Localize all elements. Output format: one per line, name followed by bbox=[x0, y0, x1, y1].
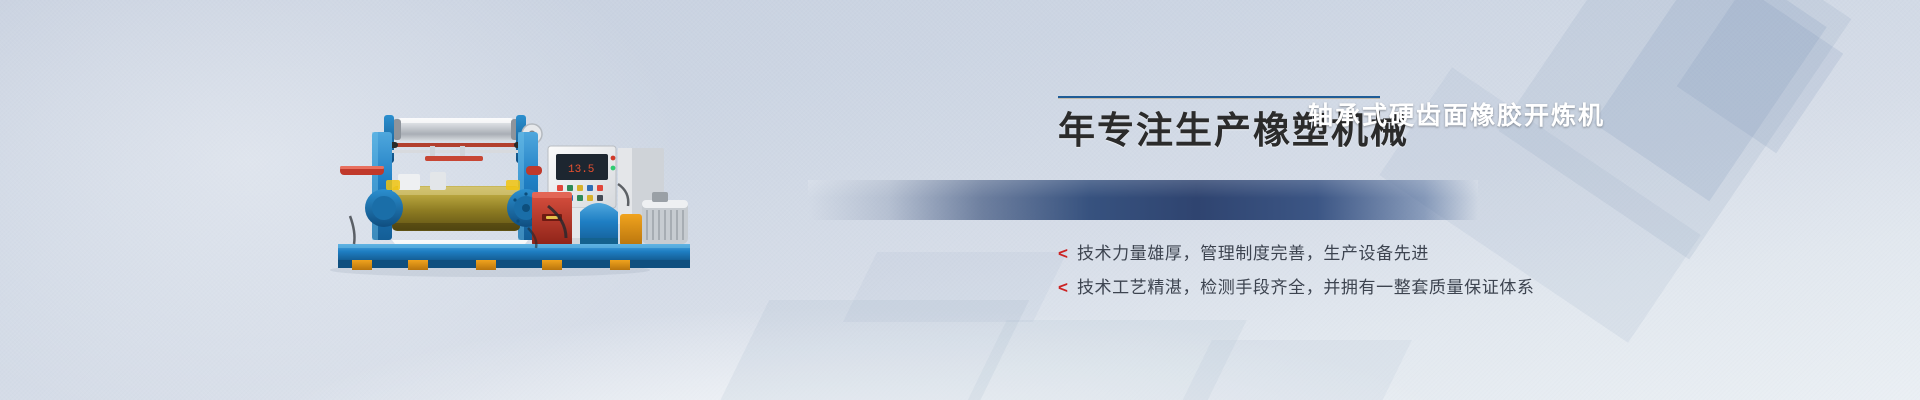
decorative-polygon-8 bbox=[1168, 340, 1412, 400]
list-item: < 技术工艺精湛，检测手段齐全，并拥有一整套质量保证体系 bbox=[1058, 278, 1535, 298]
feature-text: 技术力量雄厚，管理制度完善，生产设备先进 bbox=[1077, 244, 1429, 264]
product-image-rubber-mixing-mill: 13.5 bbox=[280, 88, 700, 278]
svg-text:13.5: 13.5 bbox=[568, 164, 594, 176]
feature-list: < 技术力量雄厚，管理制度完善，生产设备先进 < 技术工艺精湛，检测手段齐全，并… bbox=[1058, 244, 1535, 313]
subtitle-bar bbox=[808, 180, 1478, 220]
subtitle-bar-sheen bbox=[808, 180, 1478, 198]
promo-banner: 13.5 bbox=[0, 0, 1920, 400]
decorative-polygon-7 bbox=[843, 252, 1067, 322]
banner-copy: 年专注生产橡塑机械 轴承式硬齿面橡胶开炼机 < 技术力量雄厚，管理制度完善，生产… bbox=[1058, 96, 1878, 161]
product-subtitle: 轴承式硬齿面橡胶开炼机 bbox=[1308, 96, 1605, 136]
feature-text: 技术工艺精湛，检测手段齐全，并拥有一整套质量保证体系 bbox=[1077, 278, 1535, 298]
decorative-polygon-5 bbox=[711, 300, 1030, 400]
list-item: < 技术力量雄厚，管理制度完善，生产设备先进 bbox=[1058, 244, 1535, 264]
chevron-left-icon: < bbox=[1058, 279, 1068, 296]
decorative-polygon-6 bbox=[953, 320, 1247, 400]
chevron-left-icon: < bbox=[1058, 245, 1068, 262]
